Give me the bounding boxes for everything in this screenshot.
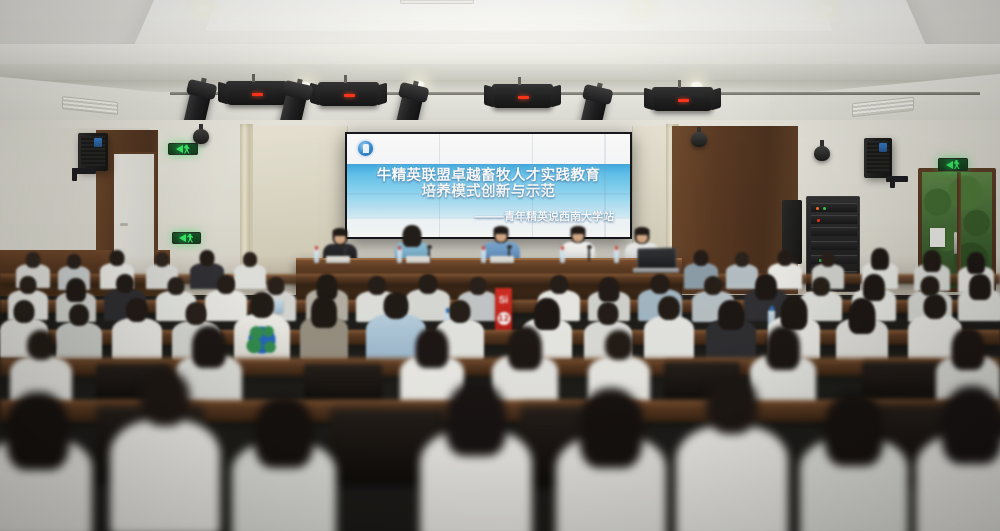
- audience-mid-18-head: [921, 276, 940, 296]
- audience-back-1-head: [26, 252, 41, 268]
- stage-par-light-1: [226, 81, 287, 105]
- slide-title: 牛精英联盟卓越畜牧人才实践教育 培养模式创新与示范: [347, 168, 630, 200]
- ceiling-downlight-3: [820, 4, 833, 13]
- audience-foreground-6-torso: [676, 426, 788, 531]
- audience-foreground-6: [676, 376, 788, 531]
- slide-subtitle-text: 青年精英说西南大学站: [504, 210, 614, 223]
- stage-par-light-2: [318, 82, 379, 106]
- exit-arrow-icon-2: [179, 234, 186, 242]
- audience-row4-4-hair: [508, 326, 542, 370]
- audience-mid-17-hair: [863, 274, 885, 301]
- exit-sign-left-upper: [168, 143, 198, 155]
- exit-sign-glow-3: [939, 159, 967, 170]
- audience-foreground-1: [0, 392, 92, 531]
- institution-logo-icon: [358, 141, 373, 156]
- ceiling-downlight-2: [636, 2, 649, 11]
- table-water-bottle-1: [314, 249, 319, 263]
- rack-unit-3: [811, 227, 857, 236]
- door-notice-sheet: [930, 228, 945, 247]
- audience-row3-4-head: [186, 302, 207, 325]
- ceiling-coffer-inner: [206, 0, 833, 30]
- audience-foreground-7: [800, 392, 908, 531]
- audience-row3-11-hair: [781, 296, 808, 330]
- par-led-indicator-1: [252, 93, 263, 96]
- audience-foreground-2-head: [140, 370, 190, 426]
- audience-foreground-3-hair: [255, 396, 313, 468]
- audience-row3-10-hair: [718, 300, 744, 330]
- par-led-indicator-2: [344, 94, 355, 97]
- audience-mid-11-head: [550, 275, 568, 294]
- audience-mid-10-head: [470, 277, 487, 295]
- red-banner-badge: 12: [497, 312, 510, 325]
- ceiling-rim: [0, 44, 1000, 66]
- par-led-indicator-3: [518, 96, 529, 99]
- audience-row3-12-hair: [849, 298, 876, 334]
- panelist-2-hair: [403, 225, 422, 247]
- audience-foreground-6-head: [706, 376, 758, 434]
- audience-row3-10: [706, 300, 756, 358]
- audience-row4-1-head: [27, 330, 55, 360]
- audience-mid-19: [958, 274, 1000, 320]
- exit-arrow-icon-3: [946, 161, 953, 169]
- stage-par-light-4: [652, 87, 713, 111]
- exit-sign-glow-1: [169, 144, 197, 154]
- wall-speaker-right: [864, 138, 892, 178]
- panelist-laptop-base: [633, 268, 679, 273]
- audience-mid-12-hair: [599, 277, 620, 302]
- audience-row4-3-hair: [416, 328, 449, 368]
- slide-subtitle-dash: ———: [474, 210, 504, 223]
- rack-unit-1: [811, 203, 857, 212]
- rack-unit-2: [811, 215, 857, 224]
- audience-foreground-7-hair: [825, 392, 883, 466]
- security-camera-1: [814, 146, 830, 161]
- audience-foreground-5-hair: [580, 388, 642, 468]
- audience-back-3-head: [110, 250, 125, 266]
- door-handle-icon-right: [954, 232, 957, 254]
- conference-hall-photo: 牛精英联盟卓越畜牧人才实践教育 培养模式创新与示范 ———青年精英说西南大学站: [0, 0, 1000, 531]
- audience-foreground-5: [556, 388, 666, 531]
- speaker-mount-left-arm: [72, 168, 77, 181]
- audience-globe-tshirt-person: [234, 292, 290, 362]
- audience-row3-9: [644, 296, 694, 358]
- audience-mid-5-head: [217, 275, 235, 294]
- audience-mid-14-head: [704, 276, 722, 295]
- audience-row3-6-head: [450, 300, 471, 323]
- panelist-1-hair: [333, 228, 348, 236]
- par-yoke-2: [344, 75, 347, 83]
- audience-foreground-8-hair: [942, 386, 1000, 464]
- audience-foreground-8: [916, 386, 1000, 531]
- table-water-bottle-2: [397, 249, 402, 263]
- audience-back-9-head: [778, 250, 793, 266]
- exit-sign-right: [938, 158, 968, 171]
- audience-row3-3-head: [126, 298, 148, 322]
- table-microphone-4: [588, 248, 590, 261]
- panelist-3-hair: [494, 226, 509, 234]
- audience-mid-2-hair: [66, 278, 86, 302]
- running-man-icon-1: [184, 145, 191, 154]
- audience-mid-19-hair: [969, 274, 991, 300]
- audience-back-12-hair: [923, 250, 941, 272]
- audience-back-13-hair: [967, 252, 985, 274]
- door-handle-icon-left: [120, 223, 128, 226]
- audience-foreground-4-hair: [446, 382, 506, 456]
- audience-row4-2-hair: [192, 326, 226, 368]
- panelist-5-hair: [635, 227, 650, 235]
- projection-screen: 牛精英联盟卓越畜牧人才实践教育 培养模式创新与示范 ———青年精英说西南大学站: [345, 132, 632, 239]
- speaker-badge-left: [94, 138, 102, 147]
- audience-row3-9-head: [658, 296, 680, 320]
- audience-foreground-1-hair: [7, 392, 69, 470]
- exit-sign-glow-2: [173, 233, 200, 243]
- audience-mid-1-head: [20, 276, 37, 294]
- audience-row3-3: [112, 298, 162, 358]
- audience-back-10-head: [821, 252, 835, 267]
- security-camera-2: [193, 129, 209, 144]
- audience-back-2-head: [67, 254, 81, 269]
- audience-foreground-2: [110, 370, 220, 531]
- audience-mid-13-head: [651, 274, 670, 294]
- audience-mid-3-head: [116, 274, 134, 293]
- audience-row4-5-head: [605, 330, 633, 360]
- speaker-badge-right: [879, 143, 887, 152]
- audience-back-8-head: [735, 252, 749, 267]
- audience-row3-13-head: [924, 294, 947, 319]
- audience-row4-7-hair: [952, 328, 985, 370]
- panelist-4-hair: [571, 226, 586, 234]
- rack-unit-4: [811, 241, 857, 250]
- slide-title-line-1: 牛精英联盟卓越畜牧人才实践教育: [347, 168, 630, 184]
- audience-row3-3-torso: [112, 318, 162, 360]
- ceiling-downlight-1: [196, 4, 209, 13]
- globe-tshirt-head: [250, 292, 274, 318]
- audience-back-5-head: [200, 250, 215, 266]
- audience-foreground-3: [232, 396, 336, 531]
- exit-arrow-icon-1: [176, 145, 183, 153]
- audience-back-6-head: [243, 252, 257, 267]
- audience-back-4-head: [155, 252, 169, 267]
- security-camera-3: [691, 132, 707, 147]
- wall-speaker-left: [78, 133, 108, 171]
- table-water-bottle-5: [614, 249, 619, 263]
- rack-led-red: [817, 219, 820, 222]
- slide-subtitle: ———青年精英说西南大学站: [347, 208, 630, 224]
- audience-foreground-2-torso: [110, 420, 220, 531]
- projection-screen-surface: 牛精英联盟卓越畜牧人才实践教育 培养模式创新与示范 ———青年精英说西南大学站: [347, 134, 630, 237]
- stage-par-light-3: [492, 84, 553, 108]
- blue-shirt-head: [384, 292, 409, 319]
- slide-title-line-2: 培养模式创新与示范: [347, 184, 630, 200]
- audience-row3-1-head: [14, 300, 35, 323]
- exit-sign-left-lower: [172, 232, 201, 244]
- table-nameplate-2: [406, 256, 430, 263]
- red-banner-text: Si: [495, 295, 512, 306]
- par-yoke-4: [678, 80, 681, 88]
- audience-mid-16-head: [812, 277, 830, 296]
- par-yoke-1: [252, 74, 255, 82]
- audience-foreground-4: [420, 382, 532, 531]
- rack-led-green: [823, 207, 826, 210]
- audience-row4-6-hair: [766, 326, 800, 370]
- audience-mid-9-head: [419, 274, 438, 294]
- audience-row3-2-head: [69, 304, 89, 326]
- par-led-indicator-4: [678, 99, 689, 102]
- table-nameplate-3: [490, 256, 514, 263]
- rack-led-amber: [816, 207, 819, 210]
- running-man-icon-3: [954, 160, 961, 169]
- ceiling-beam: [0, 64, 1000, 80]
- audience-row3-9-torso: [644, 316, 694, 360]
- audience-back-11-hair: [871, 248, 889, 270]
- audience-mid-4-head: [168, 277, 185, 295]
- table-water-bottle-3: [481, 249, 486, 263]
- slide-top-band: [347, 134, 630, 164]
- par-yoke-3: [518, 77, 521, 85]
- audience-row3-5: [300, 296, 348, 358]
- audience-row3-5-hair: [311, 296, 337, 328]
- table-nameplate-1: [326, 256, 350, 263]
- air-vent-center: [400, 0, 474, 4]
- speaker-mount-right-arm: [890, 176, 895, 188]
- audience-row3-12: [836, 298, 888, 360]
- running-man-icon-2: [187, 234, 194, 243]
- audience-row3-8-head: [598, 302, 619, 325]
- table-water-bottle-4: [560, 249, 565, 263]
- globe-graphic-print: [242, 322, 282, 358]
- audience-back-7-head: [694, 250, 709, 266]
